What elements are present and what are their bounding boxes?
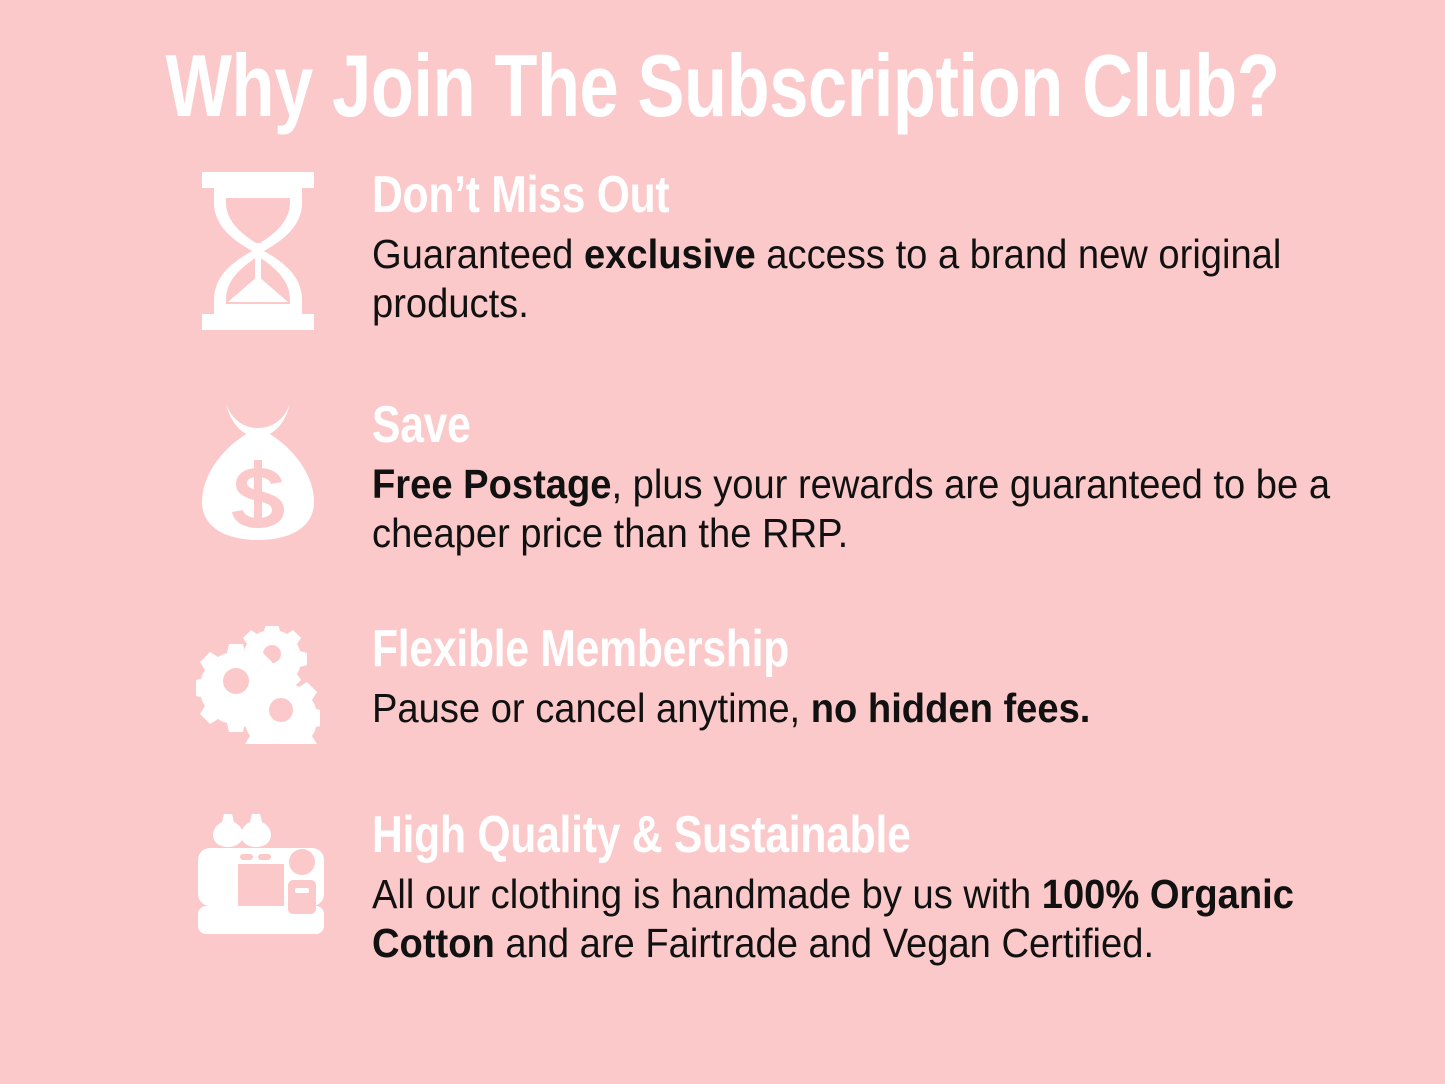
gears-icon [196,622,372,744]
feature-heading: Flexible Membership [372,622,1005,676]
money-bag-icon [196,398,372,542]
page-title: Why Join The Subscription Club? [145,38,1301,134]
feature-text-block: Don’t Miss Out Guaranteed exclusive acce… [372,168,1445,328]
feature-heading: Don’t Miss Out [372,168,1252,222]
feature-text-block: Save Free Postage, plus your rewards are… [372,398,1445,558]
feature-body: All our clothing is handmade by us with … [372,870,1370,968]
feature-row-save: Save Free Postage, plus your rewards are… [196,398,1445,558]
feature-body: Guaranteed exclusive access to a brand n… [372,230,1370,328]
feature-row-dont-miss-out: Don’t Miss Out Guaranteed exclusive acce… [196,168,1445,330]
feature-text-block: Flexible Membership Pause or cancel anyt… [372,622,1144,733]
feature-row-high-quality-sustainable: High Quality & Sustainable All our cloth… [196,808,1445,968]
subscription-benefits-poster: Why Join The Subscription Club? [0,0,1445,1084]
sewing-machine-icon [196,808,372,938]
feature-body: Free Postage, plus your rewards are guar… [372,460,1370,558]
hourglass-icon [196,168,372,330]
feature-body: Pause or cancel anytime, no hidden fees. [372,684,1090,733]
feature-row-flexible-membership: Flexible Membership Pause or cancel anyt… [196,622,1144,744]
feature-heading: High Quality & Sustainable [372,808,1252,862]
feature-text-block: High Quality & Sustainable All our cloth… [372,808,1445,968]
feature-heading: Save [372,398,1252,452]
